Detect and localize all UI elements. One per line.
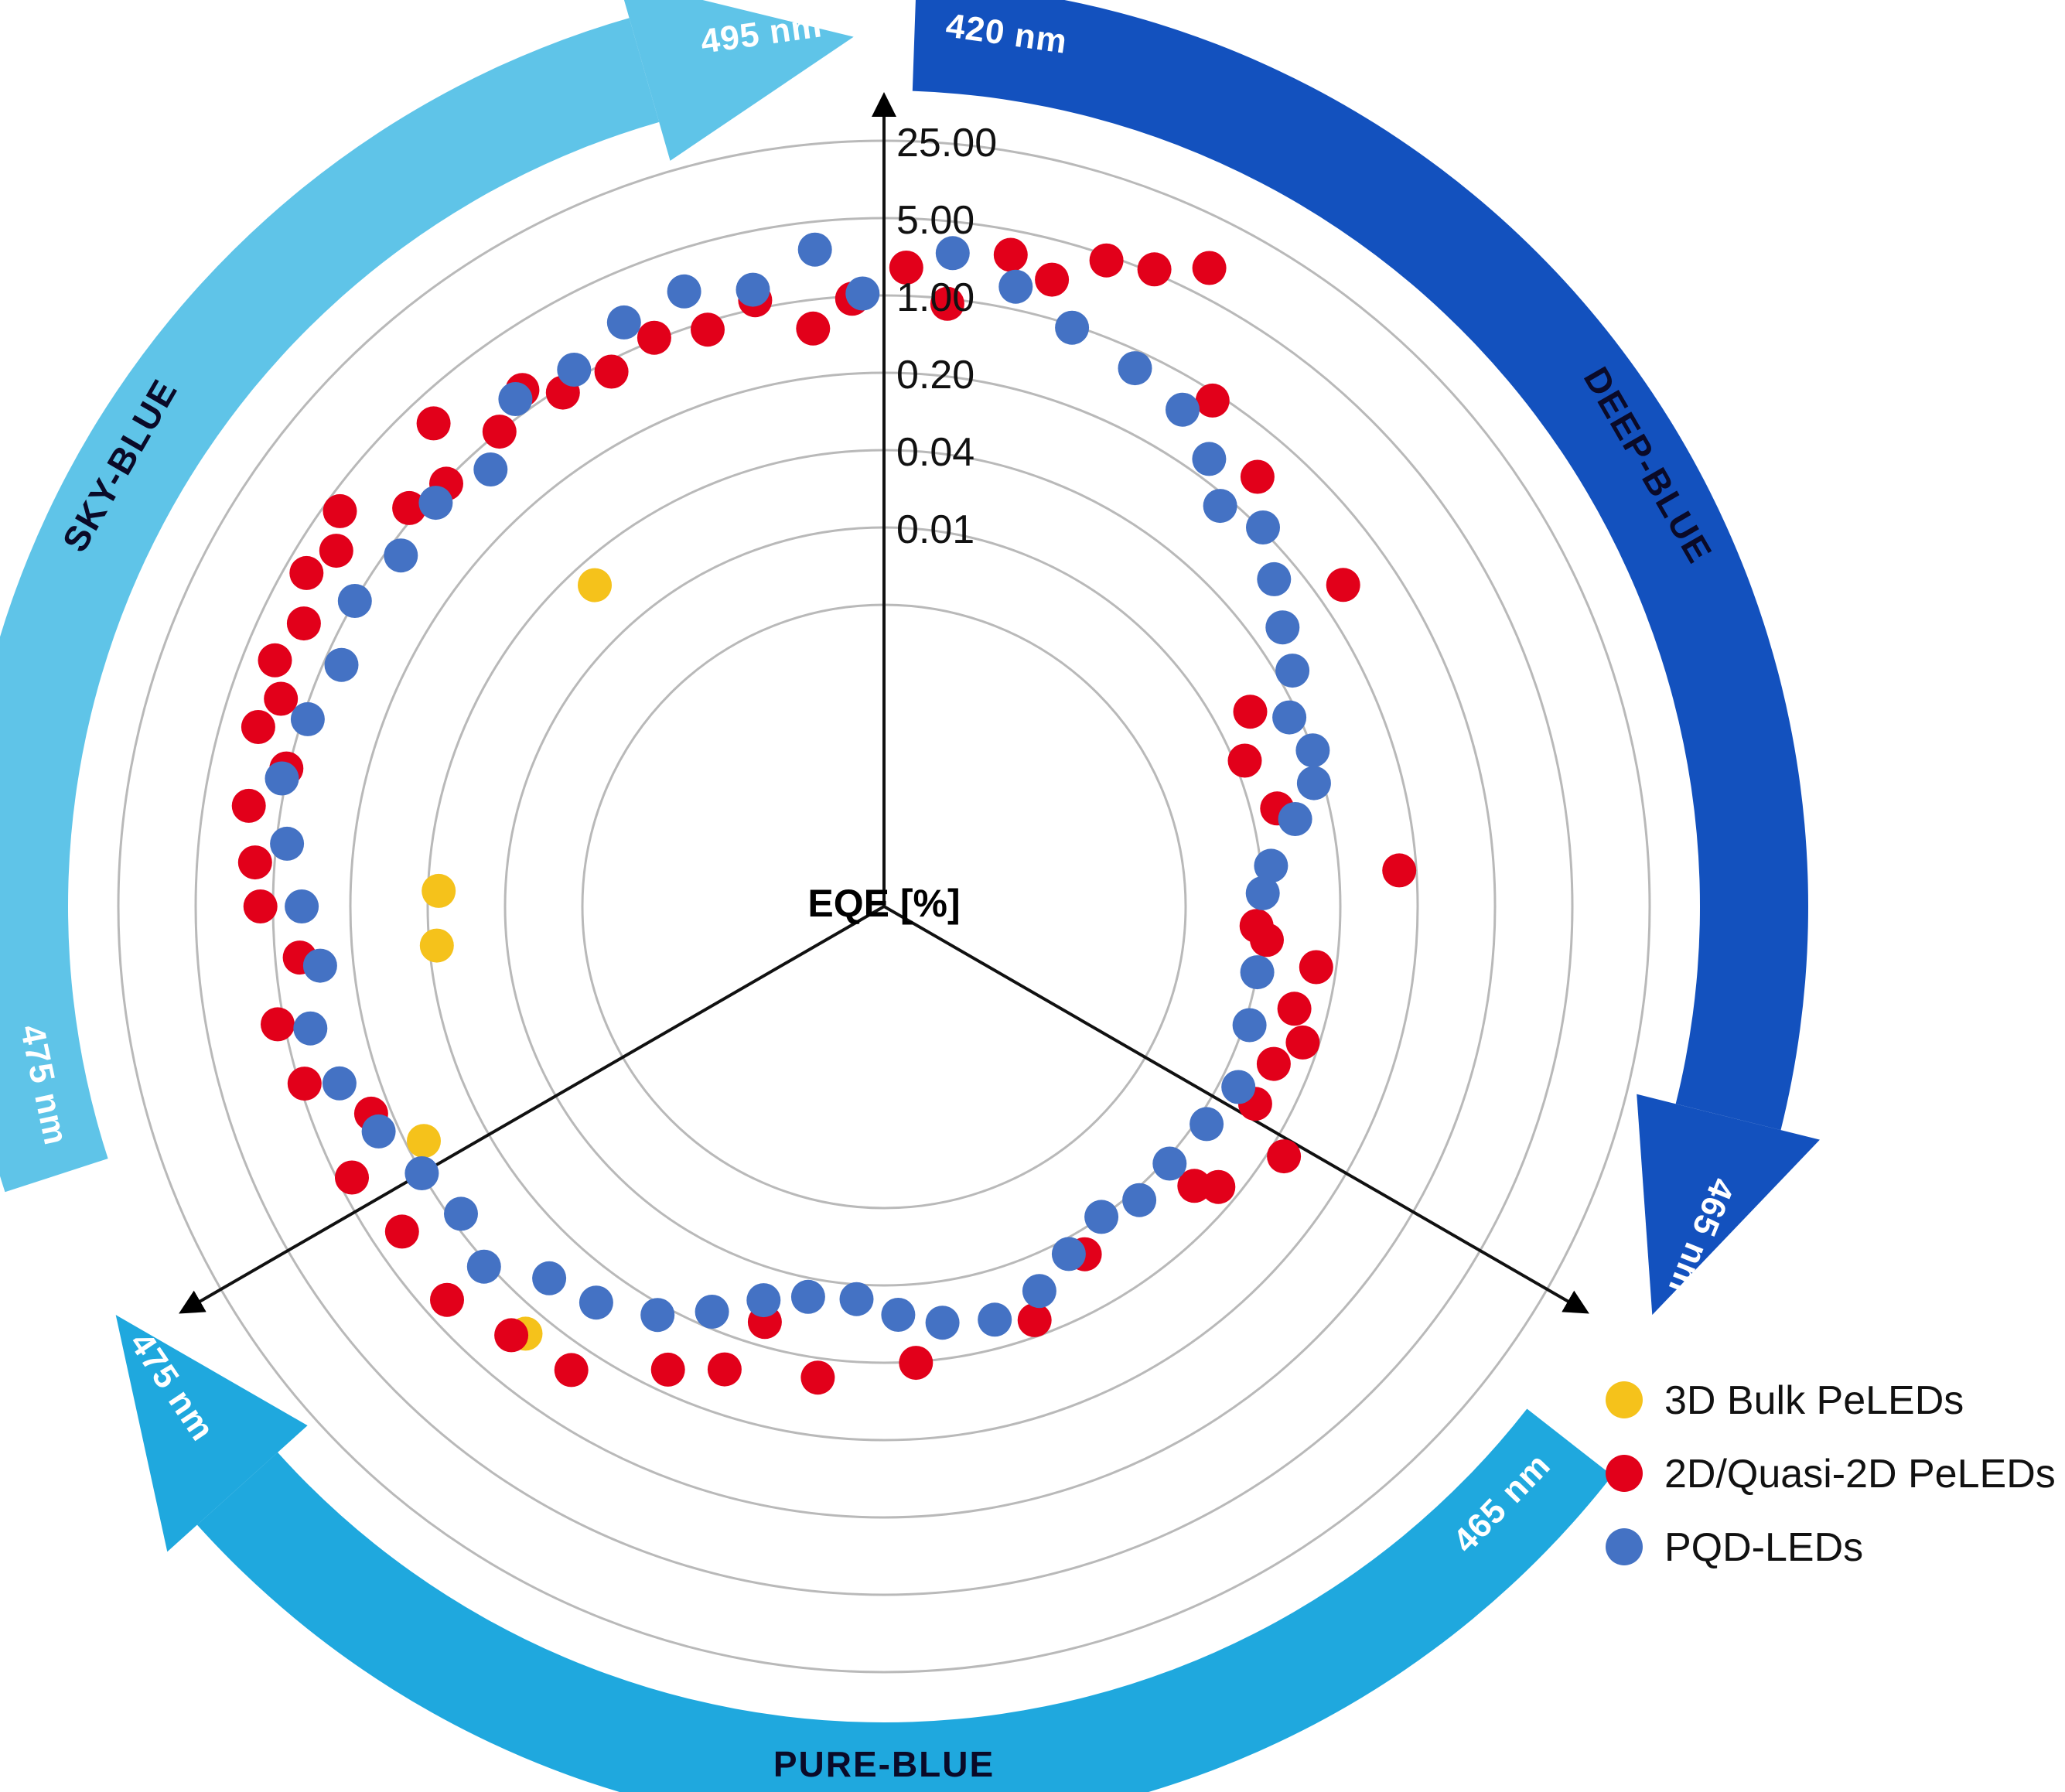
data-point [899, 1346, 933, 1380]
data-point [1265, 610, 1299, 644]
data-point [261, 1007, 295, 1041]
radial-tick-1.00: 1.00 [896, 275, 974, 320]
data-point [1122, 1183, 1156, 1217]
data-point [1234, 695, 1268, 729]
data-point [1166, 393, 1200, 427]
legend-swatch [1606, 1528, 1643, 1565]
data-point [498, 382, 532, 416]
data-point [291, 702, 325, 736]
polar-chart-svg: 0.010.040.201.005.0025.00 DEEP-BLUEPURE-… [0, 0, 2065, 1792]
axis-spoke-southeast [884, 906, 1584, 1311]
data-point [1201, 1170, 1235, 1204]
data-point [258, 643, 292, 678]
data-point [323, 494, 357, 528]
data-point [845, 277, 879, 311]
radial-tick-labels: 0.010.040.201.005.0025.00 [896, 121, 997, 552]
data-point [791, 1280, 825, 1314]
data-point [420, 929, 454, 963]
radial-tick-25.00: 25.00 [896, 121, 997, 166]
data-point [1297, 766, 1331, 800]
radial-tick-5.00: 5.00 [896, 198, 974, 243]
data-point [417, 406, 451, 440]
figure-root: 0.010.040.201.005.0025.00 DEEP-BLUEPURE-… [0, 0, 2065, 1792]
data-point [695, 1295, 729, 1329]
data-point [1267, 1139, 1301, 1173]
data-point [637, 321, 671, 355]
legend-item[interactable]: 3D Bulk PeLEDs [1606, 1378, 1964, 1423]
data-point [325, 648, 359, 682]
data-point [994, 238, 1028, 272]
data-point [578, 568, 612, 602]
center-axis-label: EQE [%] [807, 882, 960, 925]
data-point [1275, 654, 1309, 688]
data-point [736, 273, 770, 307]
data-point [494, 1318, 528, 1352]
data-point [746, 1283, 780, 1317]
data-point [557, 353, 591, 387]
data-point [998, 270, 1032, 304]
data-point [840, 1282, 874, 1316]
data-point [1035, 263, 1069, 297]
data-point [232, 789, 266, 823]
data-point [1055, 311, 1089, 345]
data-point [1190, 1107, 1224, 1141]
data-point [270, 827, 304, 861]
legend-swatch [1606, 1455, 1643, 1492]
data-point [319, 534, 353, 568]
data-point [467, 1250, 501, 1284]
data-point [1278, 992, 1312, 1026]
data-point [418, 486, 452, 520]
data-point [1118, 351, 1152, 385]
data-point [238, 845, 272, 879]
data-point [708, 1353, 742, 1387]
data-point [555, 1353, 589, 1387]
data-point [384, 538, 418, 572]
data-point [323, 1067, 357, 1101]
data-point [1221, 1070, 1255, 1104]
data-point [1193, 251, 1227, 285]
data-point [1152, 1147, 1186, 1181]
data-point [1233, 1009, 1267, 1043]
data-point [532, 1261, 566, 1295]
data-point [289, 556, 323, 590]
legend-item[interactable]: 2D/Quasi-2D PeLEDs [1606, 1452, 2056, 1497]
data-point [1254, 848, 1288, 882]
data-point [1192, 442, 1226, 476]
data-point [881, 1298, 915, 1332]
radial-tick-0.04: 0.04 [896, 430, 974, 475]
data-point [338, 584, 372, 618]
data-point [1272, 701, 1306, 735]
data-point [800, 1360, 835, 1394]
data-point [1196, 384, 1230, 418]
data-point [1246, 510, 1280, 544]
data-point [1241, 460, 1275, 494]
data-point [404, 1156, 439, 1190]
legend-swatch [1606, 1381, 1643, 1418]
data-point [303, 949, 337, 983]
data-point [798, 233, 832, 267]
data-point [1299, 951, 1333, 985]
data-point [362, 1114, 396, 1149]
data-point [926, 1306, 960, 1340]
data-point [335, 1161, 369, 1195]
data-point [444, 1196, 478, 1231]
data-point [1203, 489, 1237, 523]
data-point [1240, 909, 1274, 943]
data-point [1228, 744, 1262, 778]
band-pure-blue-body [197, 1409, 1613, 1792]
data-point [1285, 1026, 1319, 1060]
data-point [385, 1214, 419, 1248]
legend-label: 2D/Quasi-2D PeLEDs [1664, 1452, 2056, 1497]
data-point [1241, 955, 1275, 989]
data-point [651, 1353, 685, 1387]
legend-item[interactable]: PQD-LEDs [1606, 1525, 1863, 1570]
data-point [473, 452, 507, 486]
band-sky-blue-body [0, 18, 659, 1192]
data-point [1257, 562, 1291, 596]
data-point [264, 682, 298, 716]
data-point [796, 312, 830, 346]
data-point [265, 762, 299, 796]
data-point [285, 889, 319, 923]
legend: 3D Bulk PeLEDs2D/Quasi-2D PeLEDsPQD-LEDs [1606, 1378, 2056, 1570]
data-point [1257, 1047, 1291, 1081]
data-point [1326, 568, 1360, 602]
data-point [1022, 1274, 1056, 1308]
data-point [640, 1298, 674, 1332]
data-point [1052, 1237, 1086, 1271]
data-point [244, 889, 278, 923]
data-point [1090, 244, 1124, 278]
data-point [667, 275, 701, 309]
data-point [1382, 853, 1416, 887]
radial-tick-0.01: 0.01 [896, 507, 974, 552]
data-point [241, 710, 275, 744]
data-point [978, 1302, 1012, 1336]
data-point [287, 606, 321, 640]
radial-tick-0.20: 0.20 [896, 353, 974, 398]
band-label-pure-blue: PURE-BLUE [773, 1744, 995, 1784]
data-point [430, 1283, 464, 1317]
data-point [691, 312, 725, 346]
data-point [293, 1012, 327, 1046]
data-point [407, 1124, 441, 1158]
data-point [1295, 733, 1329, 767]
data-point [579, 1285, 613, 1319]
data-point [607, 305, 641, 340]
legend-label: 3D Bulk PeLEDs [1664, 1378, 1964, 1423]
data-point [1018, 1303, 1052, 1337]
data-point [483, 415, 517, 449]
data-point [1084, 1200, 1118, 1234]
data-point [1278, 802, 1312, 836]
data-point [1138, 252, 1172, 286]
legend-label: PQD-LEDs [1664, 1525, 1863, 1570]
data-point [595, 355, 629, 389]
data-point [288, 1067, 322, 1101]
data-point [422, 874, 456, 908]
